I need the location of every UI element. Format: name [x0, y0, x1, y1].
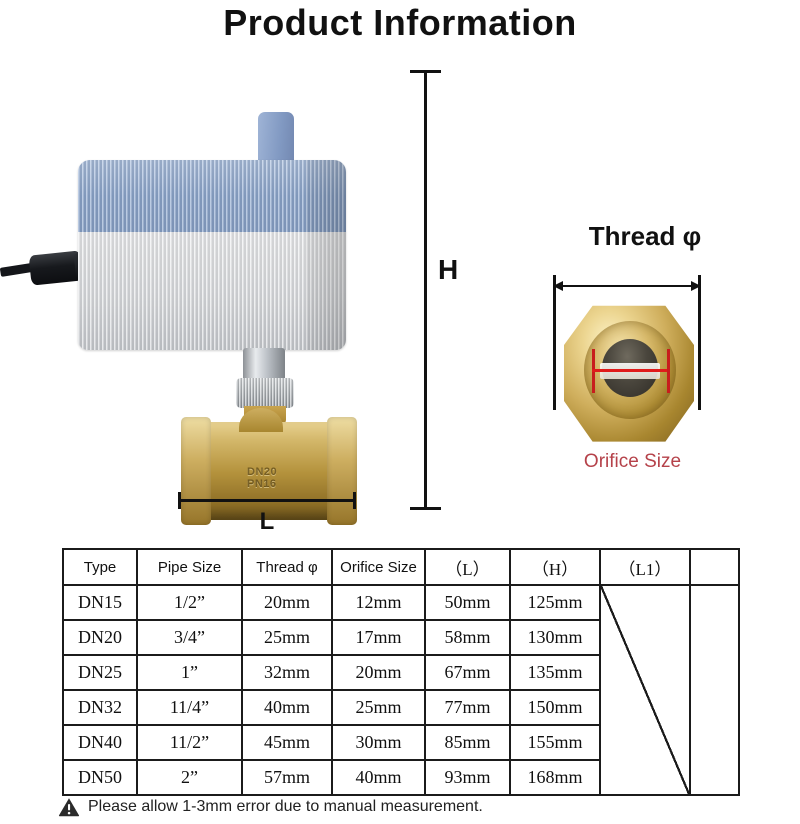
cell-type: DN40: [63, 725, 137, 760]
cell-type: DN25: [63, 655, 137, 690]
cell-l: 50mm: [425, 585, 510, 620]
valve-stem: [243, 348, 285, 382]
thread-diagram: Thread φ Orifice Size: [520, 215, 790, 485]
cell-orifice: 25mm: [332, 690, 425, 725]
dimension-h-line: [424, 71, 427, 509]
product-photo-motorized-ball-valve: DN20 PN16: [0, 50, 400, 520]
column-header-pipe-size: Pipe Size: [137, 549, 242, 585]
cell-pipe-size: 11/2”: [137, 725, 242, 760]
cell-pipe-size: 2”: [137, 760, 242, 795]
cable-gland: [29, 250, 84, 285]
dimension-l-line: [179, 499, 355, 502]
column-header-l: （L）: [425, 549, 510, 585]
cell-thread: 32mm: [242, 655, 332, 690]
warning-triangle-icon: [58, 797, 80, 817]
cell-h: 150mm: [510, 690, 600, 725]
cell-l: 77mm: [425, 690, 510, 725]
cell-h: 168mm: [510, 760, 600, 795]
cell-orifice: 17mm: [332, 620, 425, 655]
valve-stem-nut: [236, 378, 294, 408]
table-row: DN15 1/2” 20mm 12mm 50mm 125mm: [63, 585, 739, 620]
cell-l: 85mm: [425, 725, 510, 760]
column-header-thread: Thread φ: [242, 549, 332, 585]
measurement-disclaimer-text: Please allow 1-3mm error due to manual m…: [88, 798, 483, 816]
cell-pipe-size: 3/4”: [137, 620, 242, 655]
cell-orifice: 20mm: [332, 655, 425, 690]
cell-h: 155mm: [510, 725, 600, 760]
orifice-tick-right: [667, 349, 670, 393]
cell-thread: 20mm: [242, 585, 332, 620]
thread-diagram-title: Thread φ: [520, 221, 770, 252]
valve-body-marking: DN20 PN16: [247, 466, 277, 490]
actuator-housing: [78, 160, 346, 350]
cell-thread: 25mm: [242, 620, 332, 655]
dimension-line-l: L: [176, 490, 358, 534]
cell-orifice: 30mm: [332, 725, 425, 760]
column-header-blank: [690, 549, 739, 585]
thread-dimension-bar: [561, 285, 693, 287]
specification-table: Type Pipe Size Thread φ Orifice Size （L）…: [62, 548, 740, 796]
cell-pipe-size: 11/4”: [137, 690, 242, 725]
page-title: Product Information: [0, 2, 800, 44]
cell-thread: 45mm: [242, 725, 332, 760]
cell-h: 135mm: [510, 655, 600, 690]
valve-marking-pn: PN16: [247, 478, 277, 490]
column-header-type: Type: [63, 549, 137, 585]
column-header-h: （H）: [510, 549, 600, 585]
dimension-l-label: L: [176, 508, 358, 536]
cell-l: 67mm: [425, 655, 510, 690]
dimension-h-label: H: [438, 254, 458, 286]
cell-type: DN32: [63, 690, 137, 725]
cell-l: 58mm: [425, 620, 510, 655]
cell-pipe-size: 1/2”: [137, 585, 242, 620]
cell-orifice: 40mm: [332, 760, 425, 795]
cell-thread: 40mm: [242, 690, 332, 725]
actuator-housing-side: [306, 160, 346, 350]
orifice-size-label: Orifice Size: [520, 451, 745, 473]
cell-orifice: 12mm: [332, 585, 425, 620]
thread-dimension-arrow: [553, 281, 701, 291]
measurement-disclaimer: Please allow 1-3mm error due to manual m…: [58, 797, 483, 817]
dimension-line-h: H: [408, 68, 478, 512]
valve-marking-dn: DN20: [247, 466, 277, 478]
cell-type: DN50: [63, 760, 137, 795]
cell-blank-empty: [690, 585, 739, 795]
orifice-size-marker: [592, 369, 670, 372]
cell-thread: 57mm: [242, 760, 332, 795]
column-header-l1: （L1）: [600, 549, 690, 585]
thread-extension-line-right: [698, 275, 701, 410]
cell-pipe-size: 1”: [137, 655, 242, 690]
cell-l1-empty: [600, 585, 690, 795]
cell-h: 130mm: [510, 620, 600, 655]
thread-extension-line-left: [553, 275, 556, 410]
brass-valve-end-face: [564, 303, 694, 443]
table-header-row: Type Pipe Size Thread φ Orifice Size （L）…: [63, 549, 739, 585]
cell-type: DN15: [63, 585, 137, 620]
cell-type: DN20: [63, 620, 137, 655]
cell-l: 93mm: [425, 760, 510, 795]
cell-h: 125mm: [510, 585, 600, 620]
dimension-l-cap-right: [353, 492, 356, 509]
column-header-orifice-size: Orifice Size: [332, 549, 425, 585]
dimension-h-cap-bottom: [410, 507, 441, 510]
